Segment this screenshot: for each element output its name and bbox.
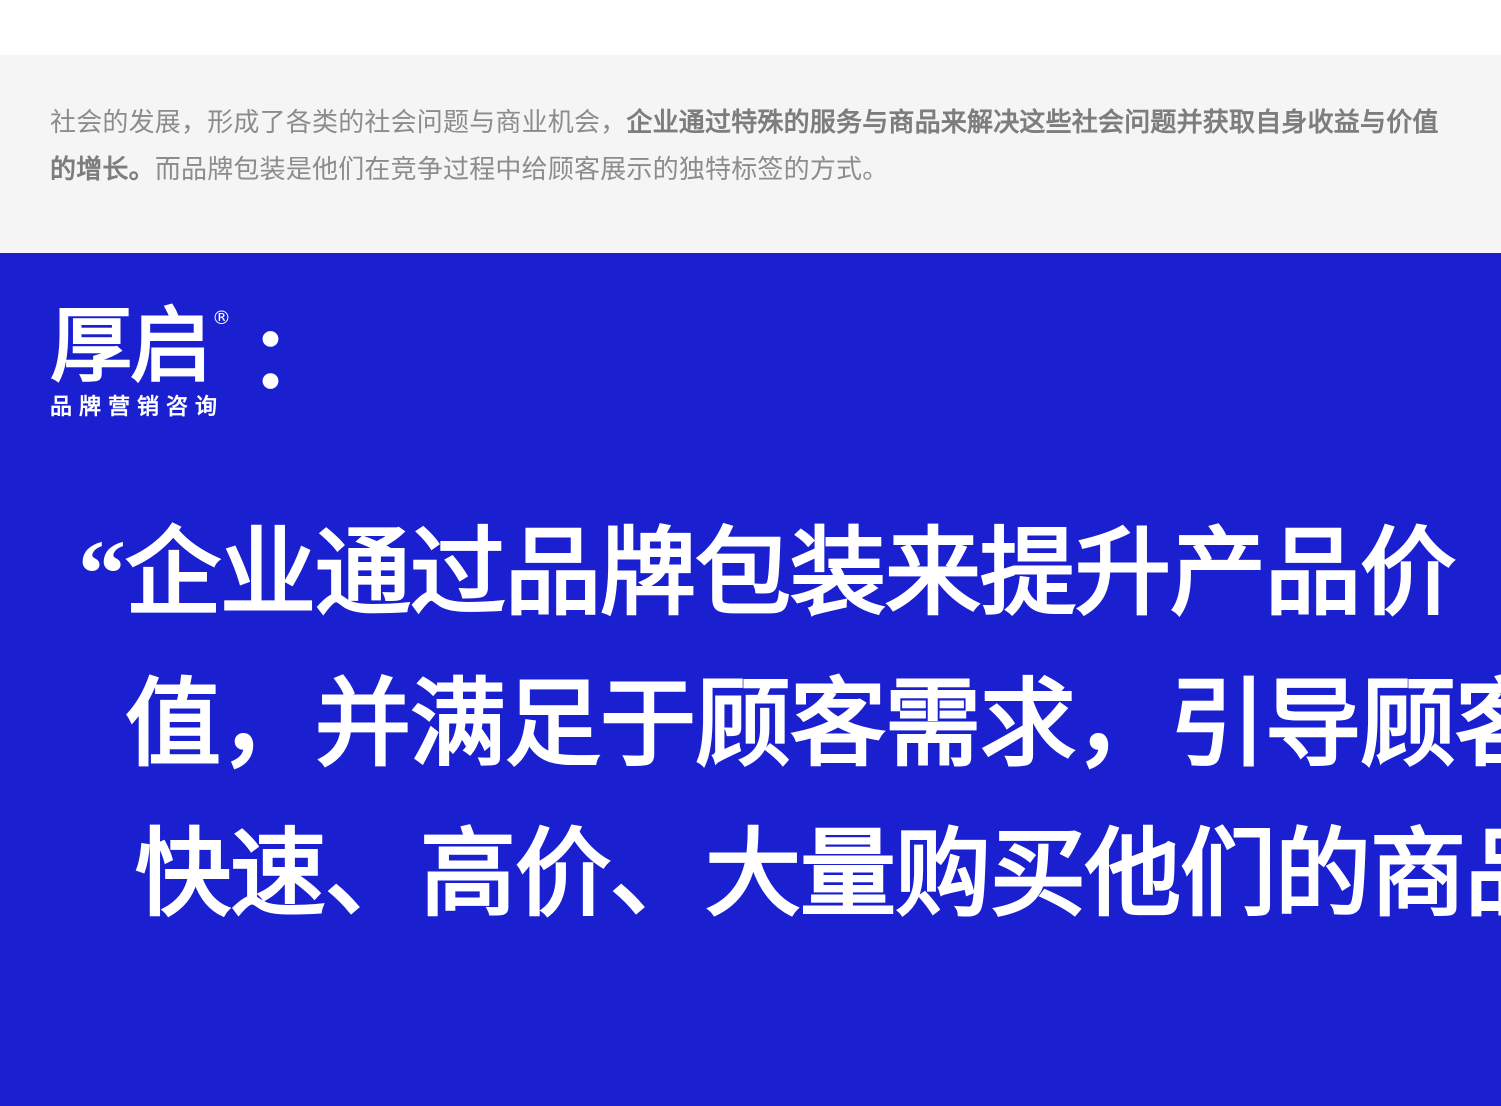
- registered-trademark-icon: ®: [212, 307, 231, 329]
- quote-line-2: 值，并满足于顾客需求，引导顾客: [78, 649, 1448, 799]
- quote-line-2-text: 值，并满足于顾客需求，引导顾客: [125, 668, 1501, 780]
- intro-tail-text: 而品牌包装是他们在竞争过程中给顾客展示的独特标签的方式。: [155, 154, 889, 184]
- quote-line-1: “企业通过品牌包装来提升产品价: [78, 498, 1448, 649]
- logo-wordmark-row: 厚启 ®: [50, 305, 231, 389]
- intro-band: 社会的发展，形成了各类的社会问题与商业机会，企业通过特殊的服务与商品来解决这些社…: [0, 55, 1501, 253]
- open-quote-mark: “: [78, 520, 125, 627]
- quote-line-3: 快速、高价、大量购买他们的商品”: [78, 799, 1448, 950]
- quote-line-3-text: 快速、高价、大量购买他们的商品: [135, 818, 1501, 930]
- logo-subtitle: 品牌营销咨询: [50, 395, 224, 421]
- pull-quote: “企业通过品牌包装来提升产品价 值，并满足于顾客需求，引导顾客 快速、高价、大量…: [78, 498, 1448, 950]
- logo-wordmark: 厚启: [50, 305, 210, 389]
- slide-canvas: 社会的发展，形成了各类的社会问题与商业机会，企业通过特殊的服务与商品来解决这些社…: [0, 0, 1501, 1106]
- intro-paragraph: 社会的发展，形成了各类的社会问题与商业机会，企业通过特殊的服务与商品来解决这些社…: [50, 99, 1460, 193]
- top-white-margin: [0, 0, 1501, 55]
- logo-stack: 厚启 ® 品牌营销咨询: [50, 305, 231, 421]
- intro-lead-text: 社会的发展，形成了各类的社会问题与商业机会，: [50, 107, 626, 137]
- quote-line-1-text: 企业通过品牌包装来提升产品价: [125, 517, 1455, 629]
- logo-colon: ：: [249, 315, 335, 401]
- brand-logo: 厚启 ® 品牌营销咨询 ：: [50, 305, 335, 421]
